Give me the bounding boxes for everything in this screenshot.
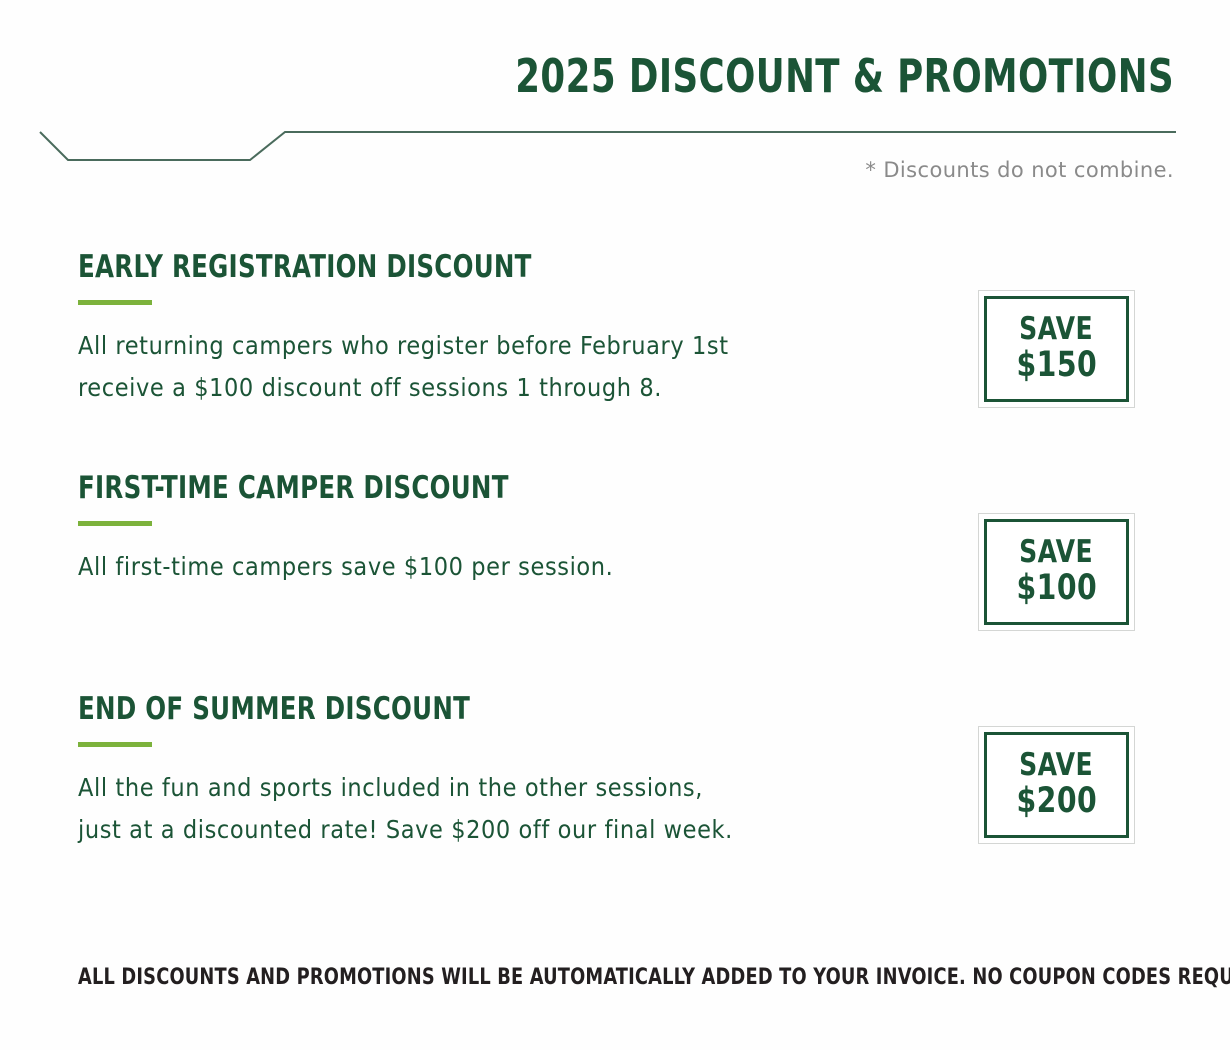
save-badge-frame: SAVE $150 — [984, 296, 1129, 402]
promotion-text-block: FIRST-TIME CAMPER DISCOUNT All first-tim… — [78, 473, 938, 588]
promotion-description: All first-time campers save $100 per ses… — [78, 546, 938, 588]
save-badge-label: SAVE — [1020, 314, 1094, 346]
promotion-heading: FIRST-TIME CAMPER DISCOUNT — [78, 473, 835, 504]
promotion-item: EARLY REGISTRATION DISCOUNT All returnin… — [0, 252, 1230, 452]
save-badge-frame: SAVE $200 — [984, 732, 1129, 838]
promotion-heading: END OF SUMMER DISCOUNT — [78, 694, 835, 725]
promotion-text-block: END OF SUMMER DISCOUNT All the fun and s… — [78, 694, 938, 851]
save-badge: SAVE $200 — [978, 726, 1135, 844]
promotion-heading: EARLY REGISTRATION DISCOUNT — [78, 252, 835, 283]
promotion-text-block: EARLY REGISTRATION DISCOUNT All returnin… — [78, 252, 938, 409]
save-badge: SAVE $100 — [978, 513, 1135, 631]
promotion-description-line: receive a $100 discount off sessions 1 t… — [78, 367, 938, 409]
save-badge-amount: $150 — [1016, 348, 1097, 384]
save-badge-amount: $200 — [1016, 784, 1097, 820]
promotion-description: All the fun and sports included in the o… — [78, 767, 938, 851]
heading-accent-bar — [78, 742, 152, 747]
disclaimer-text: * Discounts do not combine. — [865, 158, 1174, 182]
save-badge-label: SAVE — [1020, 750, 1094, 782]
promotion-description-line: just at a discounted rate! Save $200 off… — [78, 809, 938, 851]
promotion-item: END OF SUMMER DISCOUNT All the fun and s… — [0, 694, 1230, 894]
save-badge-frame: SAVE $100 — [984, 519, 1129, 625]
save-badge-label: SAVE — [1020, 537, 1094, 569]
promotion-description: All returning campers who register befor… — [78, 325, 938, 409]
promotion-description-line: All the fun and sports included in the o… — [78, 767, 938, 809]
page-header: 2025 DISCOUNT & PROMOTIONS * Discounts d… — [0, 0, 1230, 200]
footer-note: ALL DISCOUNTS AND PROMOTIONS WILL BE AUT… — [78, 965, 1068, 990]
save-badge: SAVE $150 — [978, 290, 1135, 408]
promotion-description-line: All returning campers who register befor… — [78, 325, 938, 367]
heading-accent-bar — [78, 521, 152, 526]
promotions-list: EARLY REGISTRATION DISCOUNT All returnin… — [0, 252, 1230, 894]
save-badge-amount: $100 — [1016, 571, 1097, 607]
promotion-item: FIRST-TIME CAMPER DISCOUNT All first-tim… — [0, 473, 1230, 673]
page-title: 2025 DISCOUNT & PROMOTIONS — [515, 52, 1174, 100]
heading-accent-bar — [78, 300, 152, 305]
promotion-description-line: All first-time campers save $100 per ses… — [78, 546, 938, 588]
